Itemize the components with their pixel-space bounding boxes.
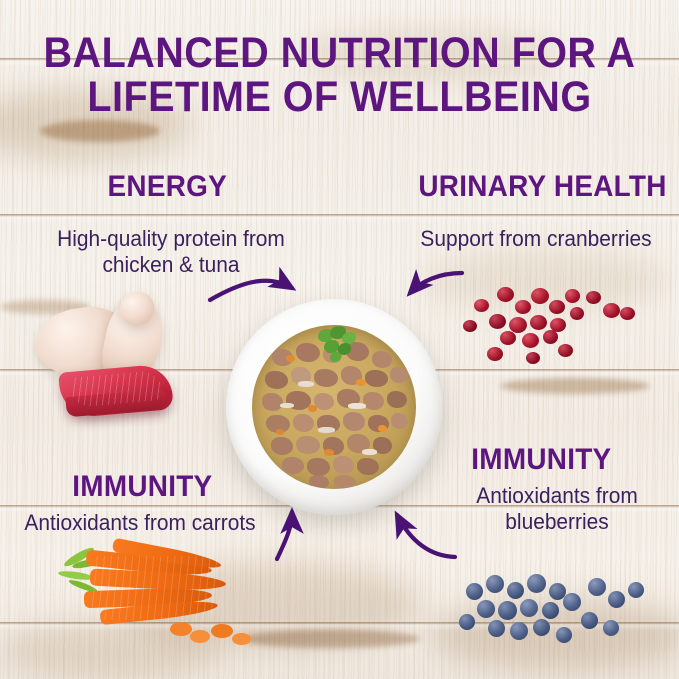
headline-line-2: LIFETIME OF WELLBEING bbox=[27, 76, 652, 120]
benefit-subtitle-blueberries-line2: blueberries bbox=[505, 509, 608, 534]
benefit-title-urinary-health: URINARY HEALTH bbox=[418, 170, 666, 204]
benefit-subtitle-energy-line2: chicken & tuna bbox=[102, 252, 239, 277]
benefit-subtitle-urinary-line1: Support from cranberries bbox=[420, 226, 651, 251]
benefit-subtitle-blueberries-line1: Antioxidants from bbox=[476, 483, 637, 508]
benefit-title-immunity-blueberries: IMMUNITY bbox=[471, 443, 611, 477]
benefit-subtitle-carrots-line1: Antioxidants from carrots bbox=[24, 510, 255, 535]
page-title: BALANCED NUTRITION FOR A LIFETIME OF WEL… bbox=[27, 32, 652, 120]
benefit-subtitle-energy: High-quality protein from chicken & tuna bbox=[43, 226, 300, 278]
benefit-subtitle-immunity-carrots: Antioxidants from carrots bbox=[18, 510, 261, 536]
benefit-title-immunity-carrots: IMMUNITY bbox=[72, 470, 212, 504]
benefit-subtitle-energy-line1: High-quality protein from bbox=[57, 226, 285, 251]
headline-line-1: BALANCED NUTRITION FOR A bbox=[27, 32, 652, 76]
poster-canvas: BALANCED NUTRITION FOR A LIFETIME OF WEL… bbox=[0, 0, 679, 679]
bowl-gravy bbox=[252, 325, 416, 489]
benefit-subtitle-immunity-blueberries: Antioxidants from blueberries bbox=[457, 483, 657, 535]
bowl-of-cat-food bbox=[226, 299, 442, 515]
benefit-subtitle-urinary-health: Support from cranberries bbox=[414, 226, 657, 252]
benefit-title-energy: ENERGY bbox=[107, 170, 227, 204]
